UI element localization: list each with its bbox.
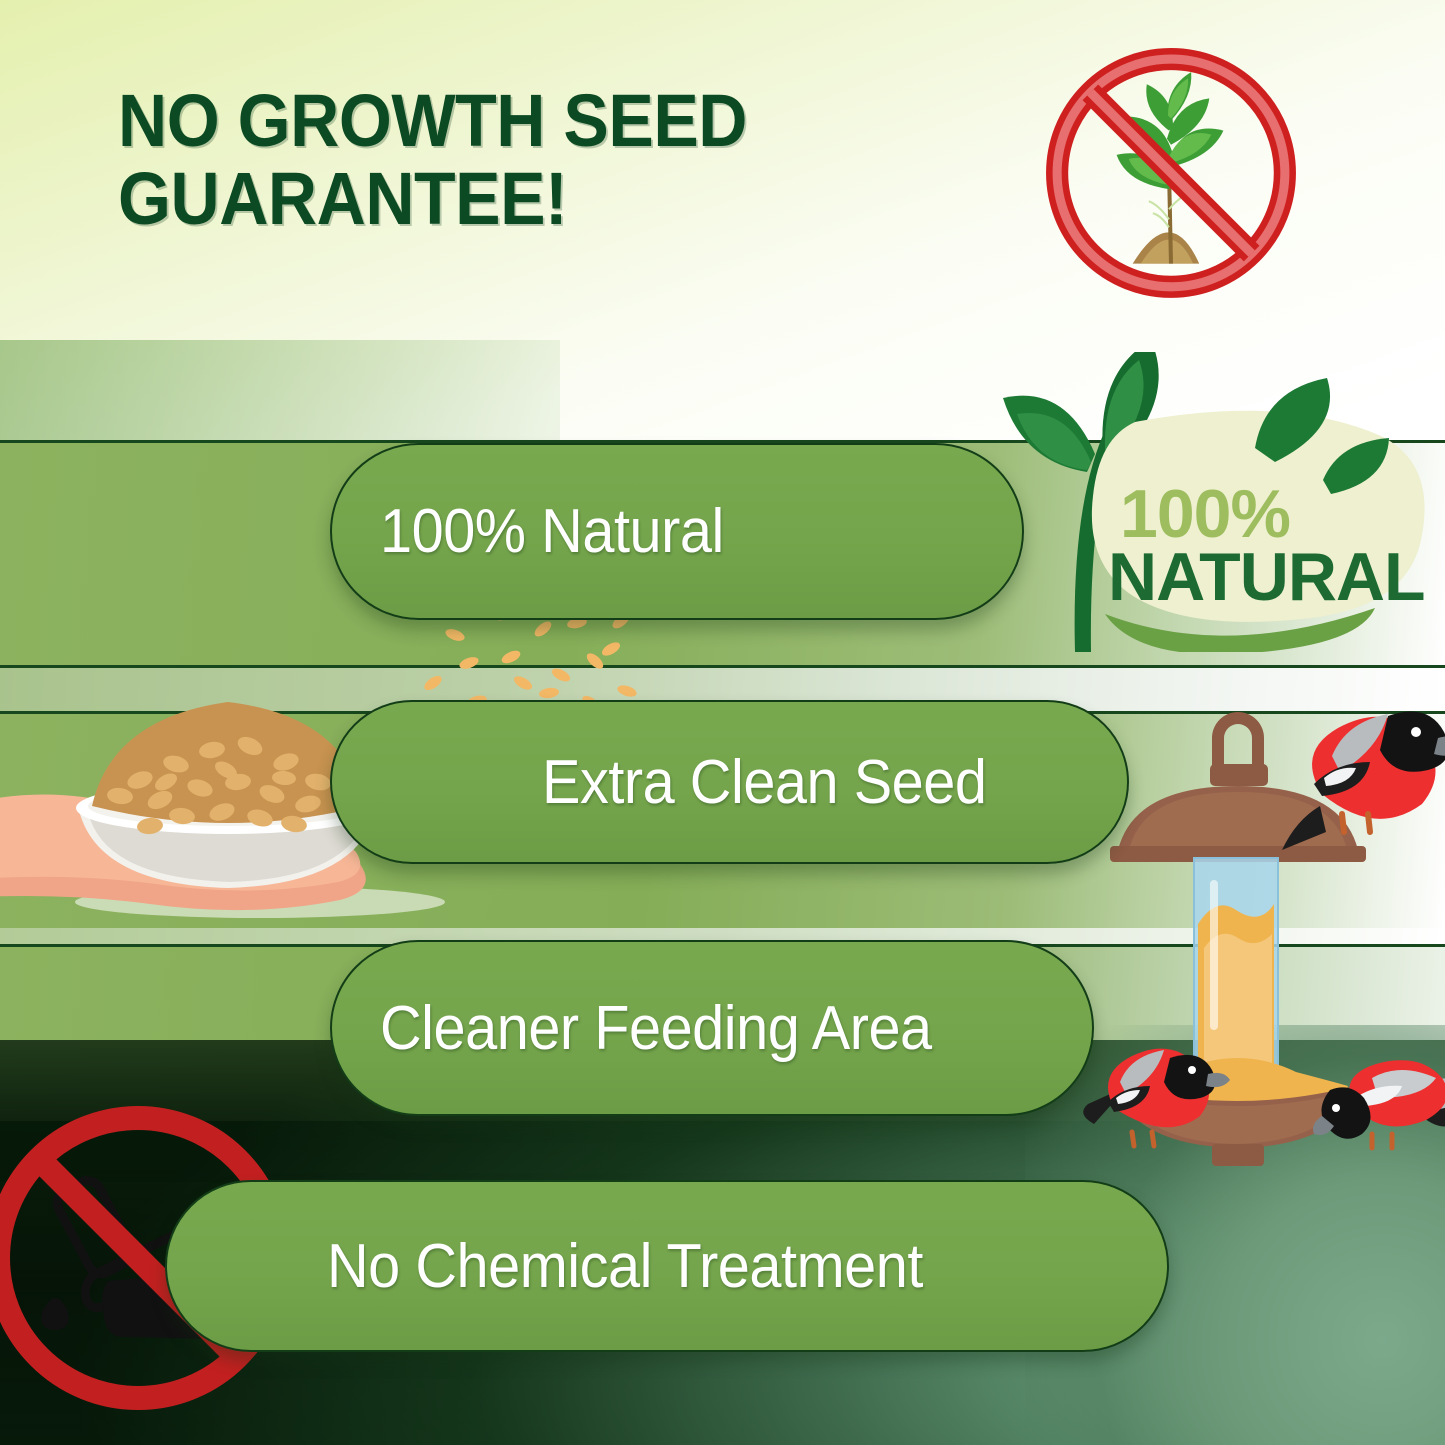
feature-pill-label: Cleaner Feeding Area (380, 993, 932, 1064)
feature-pill-label: Extra Clean Seed (542, 747, 986, 818)
headline-line-2: GUARANTEE! (118, 160, 909, 238)
feature-pill-natural[interactable]: 100% Natural (330, 443, 1024, 620)
feature-pill-no-chemical[interactable]: No Chemical Treatment (165, 1180, 1169, 1352)
infographic-canvas: NO GROWTH SEED GUARANTEE! (0, 0, 1445, 1445)
feature-pill-label: No Chemical Treatment (327, 1231, 923, 1302)
natural-badge (955, 352, 1445, 652)
feature-pill-feeding-area[interactable]: Cleaner Feeding Area (330, 940, 1094, 1116)
headline-line-1: NO GROWTH SEED (118, 82, 909, 160)
feature-pill-label: 100% Natural (380, 496, 724, 567)
no-plant-growth-icon (1040, 48, 1302, 310)
bullfinch-bird-icon (1270, 710, 1445, 860)
page-title: NO GROWTH SEED GUARANTEE! (118, 82, 909, 239)
feature-pill-clean-seed[interactable]: Extra Clean Seed (330, 700, 1129, 864)
bullfinch-bird-icon (1313, 1060, 1445, 1148)
